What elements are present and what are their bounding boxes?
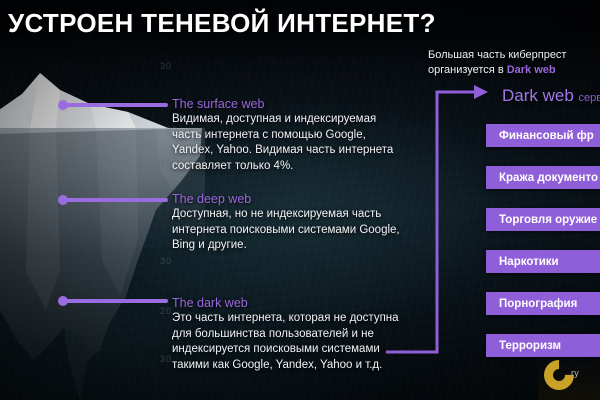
leader-line-deep (62, 198, 168, 202)
service-pill-label: Наркотики (499, 256, 559, 268)
slide-canvas: 30 20 10 30 20 30 УСТРОЕН ТЕНЕВОЙ ИНТЕРН… (0, 0, 600, 400)
depth-tick: 30 (160, 61, 172, 71)
watermark-label: ry (571, 368, 579, 378)
service-pill-label: Торговля оружие (499, 214, 597, 226)
services-heading: Dark web серв (502, 86, 600, 106)
service-pill-drugs[interactable]: Наркотики (486, 250, 600, 273)
leader-line-surface (62, 103, 168, 107)
watermark-logo: ry (538, 354, 600, 400)
intro-line-2-prefix: организуется в (428, 64, 507, 76)
intro-paragraph: Большая часть киберпрест организуется в … (428, 48, 600, 77)
service-pill-label: Финансовый фр (499, 130, 594, 142)
service-pill-financial-fraud[interactable]: Финансовый фр (486, 124, 600, 147)
depth-tick: 10 (160, 158, 172, 168)
services-heading-suffix: серв (579, 92, 600, 104)
service-pill-arms-trade[interactable]: Торговля оружие (486, 208, 600, 231)
intro-dark-web-accent: Dark web (507, 64, 556, 76)
depth-tick: 20 (160, 306, 172, 316)
service-pill-label: Терроризм (499, 340, 561, 352)
service-pill-document-theft[interactable]: Кража документо (486, 166, 600, 189)
page-title: УСТРОЕН ТЕНЕВОЙ ИНТЕРНЕТ? (8, 8, 436, 39)
leader-line-dark (62, 299, 168, 303)
intro-line-1: Большая часть киберпрест (428, 49, 566, 61)
service-pill-label: Порнография (499, 298, 577, 310)
service-pill-pornography[interactable]: Порнография (486, 292, 600, 315)
depth-tick: 30 (160, 354, 172, 364)
services-heading-main: Dark web (502, 86, 574, 105)
service-pill-label: Кража документо (499, 172, 598, 184)
depth-tick: 30 (160, 256, 172, 266)
elbow-connector-arrow (370, 80, 500, 370)
